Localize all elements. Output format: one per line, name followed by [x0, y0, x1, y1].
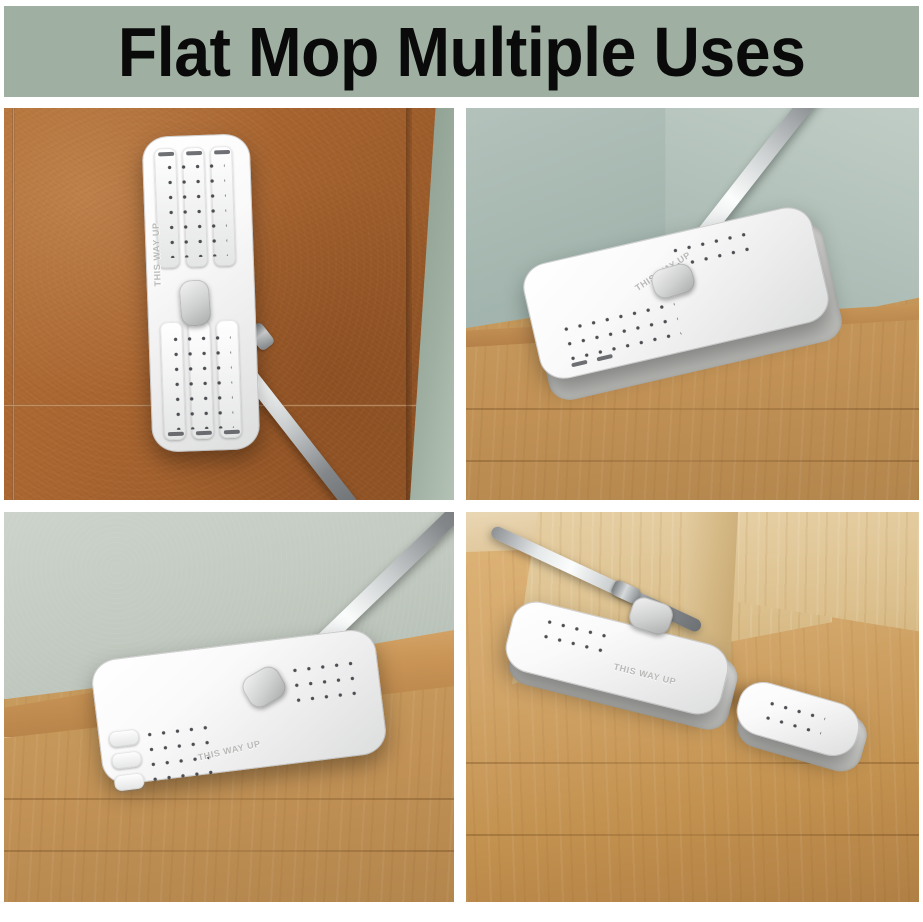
- mop-slot-mark: [186, 151, 202, 156]
- mop-vent-holes: [761, 695, 827, 735]
- panel-baseboard: THIS WAY UP Baseboard: [4, 512, 454, 902]
- wall-corner-edge: [406, 108, 412, 500]
- mop-swivel-joint: [178, 279, 211, 327]
- scene-baseboard: THIS WAY UP: [4, 512, 454, 902]
- panel-corners: THIS WAY UP Corners: [466, 108, 919, 500]
- mop-plate-rib: [111, 750, 143, 770]
- floor-plank-seam: [466, 408, 919, 410]
- floor-plank-seam: [466, 834, 919, 836]
- panel-walls-windows: THIS WAY UP Walls/Windows: [4, 108, 454, 500]
- mop-vent-holes: [287, 655, 366, 710]
- scene-corners: THIS WAY UP: [466, 108, 919, 500]
- mop-vent-holes: [558, 297, 682, 364]
- mop-slot-mark: [168, 432, 184, 437]
- panel-under-furniture: THIS WAY UP Under Furniture: [466, 512, 919, 902]
- mop-slot-mark: [214, 150, 230, 155]
- mop-vent-holes: [162, 158, 227, 258]
- scene-walls-windows: THIS WAY UP: [4, 108, 454, 500]
- product-infographic: Flat Mop Multiple Uses: [0, 0, 923, 922]
- title-banner: Flat Mop Multiple Uses: [4, 6, 919, 97]
- page-title: Flat Mop Multiple Uses: [118, 17, 806, 87]
- tile-grout-line: [12, 108, 15, 500]
- floor-plank-seam: [4, 798, 454, 800]
- scene-under-furniture: THIS WAY UP: [466, 512, 919, 902]
- mop-vent-holes: [538, 613, 614, 656]
- floor-plank-seam: [4, 850, 454, 852]
- floor-plank-seam: [466, 460, 919, 462]
- mop-slot-mark: [196, 431, 212, 436]
- mop-slot-mark: [158, 152, 174, 157]
- mop-slot-mark: [224, 430, 240, 435]
- mop-vent-holes: [168, 330, 233, 430]
- mop-embossed-label: THIS WAY UP: [613, 662, 678, 687]
- mop-plate-rib: [108, 728, 140, 748]
